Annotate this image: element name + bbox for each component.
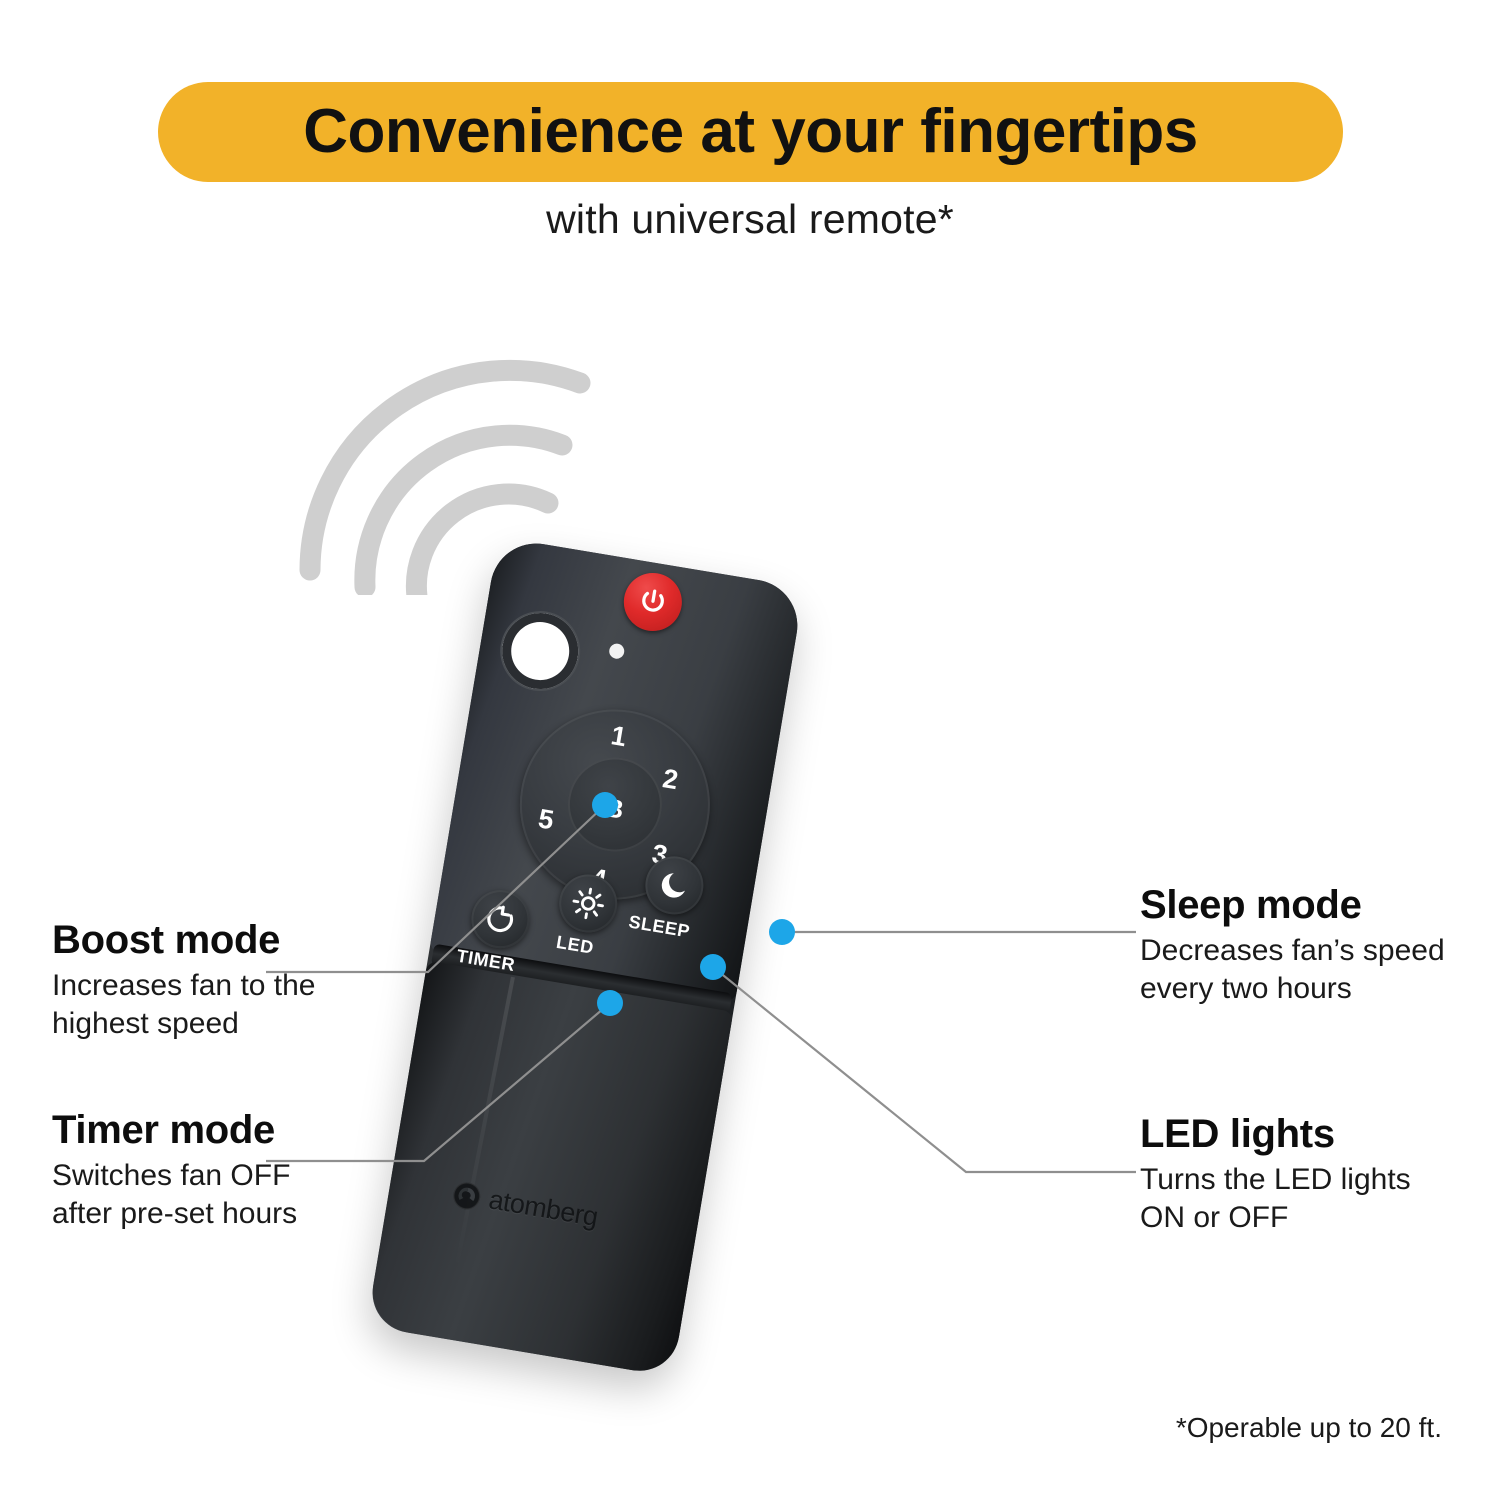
- marker-dot-led: [700, 954, 726, 980]
- brightness-sun-icon: [569, 884, 608, 923]
- callout-sleep-line2: every two hours: [1140, 970, 1445, 1008]
- callout-boost-line2: highest speed: [52, 1005, 316, 1043]
- callout-led: LED lights Turns the LED lights ON or OF…: [1140, 1112, 1411, 1238]
- callout-sleep: Sleep mode Decreases fan’s speed every t…: [1140, 883, 1445, 1009]
- callout-sleep-line1: Decreases fan’s speed: [1140, 932, 1445, 970]
- callout-timer-line1: Switches fan OFF: [52, 1157, 297, 1195]
- remote-grip-section: [366, 961, 733, 1377]
- power-icon: [636, 585, 671, 620]
- footnote-text: *Operable up to 20 ft.: [1176, 1412, 1442, 1444]
- dial-speed-2[interactable]: 2: [661, 765, 680, 794]
- atomberg-logo-icon: [451, 1180, 482, 1211]
- callout-boost: Boost mode Increases fan to the highest …: [52, 918, 316, 1044]
- dial-speed-1[interactable]: 1: [609, 722, 628, 751]
- page-subtitle: with universal remote*: [0, 196, 1500, 243]
- callout-led-line1: Turns the LED lights: [1140, 1161, 1411, 1199]
- marker-dot-boost: [592, 792, 618, 818]
- universal-remote-device[interactable]: 1 2 3 4 5 B TIMER: [366, 537, 804, 1377]
- connector-led: [713, 967, 1136, 1172]
- callout-timer-line2: after pre-set hours: [52, 1195, 297, 1233]
- page-title: Convenience at your fingertips: [303, 101, 1198, 163]
- moon-icon: [655, 866, 694, 905]
- timer-icon: [481, 900, 520, 939]
- callout-sleep-title: Sleep mode: [1140, 883, 1445, 928]
- marker-dot-sleep: [769, 919, 795, 945]
- callout-boost-line1: Increases fan to the: [52, 967, 316, 1005]
- header-banner-pill: Convenience at your fingertips: [158, 82, 1343, 182]
- callout-timer-title: Timer mode: [52, 1108, 297, 1153]
- callout-boost-title: Boost mode: [52, 918, 316, 963]
- callout-timer: Timer mode Switches fan OFF after pre-se…: [52, 1108, 297, 1234]
- infographic-page: Convenience at your fingertips with univ…: [0, 0, 1500, 1500]
- marker-dot-timer: [597, 990, 623, 1016]
- dial-speed-5[interactable]: 5: [536, 805, 555, 834]
- callout-led-line2: ON or OFF: [1140, 1199, 1411, 1237]
- callout-led-title: LED lights: [1140, 1112, 1411, 1157]
